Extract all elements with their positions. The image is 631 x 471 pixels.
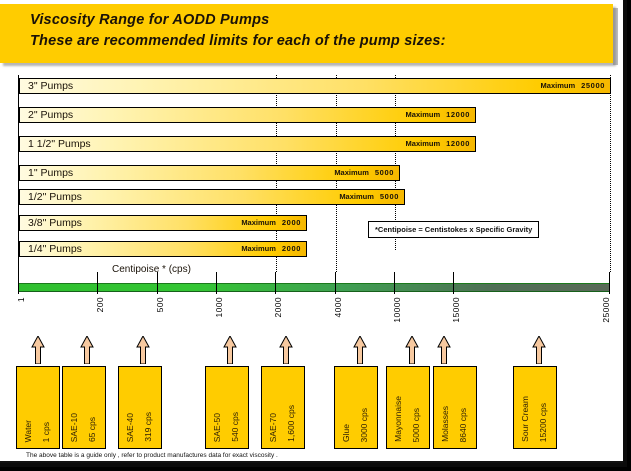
bar-row: 1/2" Pumps Maximum5000	[19, 189, 405, 205]
pointer-arrow-icon	[531, 336, 547, 364]
chart-page: Viscosity Range for AODD Pumps These are…	[0, 0, 631, 471]
title-line-2: These are recommended limits for each of…	[30, 33, 446, 49]
bar-label: 1" Pumps	[28, 167, 73, 179]
product-value: 319 cps	[143, 412, 153, 442]
bar-max-label: Maximum5000	[339, 192, 399, 201]
bar-label: 3/8" Pumps	[28, 217, 82, 229]
axis-tick	[394, 272, 395, 294]
product-card-mayonnaise[interactable]: Mayonnaise 5000 cps	[386, 366, 430, 449]
product-card-sour-cream[interactable]: Sour Cream 15200 cps	[513, 366, 557, 449]
bar-max-label: Maximum5000	[334, 168, 394, 177]
bar-half-in[interactable]: 1/2" Pumps Maximum5000	[19, 189, 405, 205]
bar-label: 2" Pumps	[28, 109, 73, 121]
bar-max-label: Maximum12000	[406, 110, 470, 119]
axis-tick-label: 1000	[214, 297, 224, 318]
pointer-arrow-icon	[79, 336, 95, 364]
bar-label: 1 1/2" Pumps	[28, 138, 91, 150]
product-card-sae-50[interactable]: SAE-50 540 cps	[205, 366, 249, 449]
product-name: Mayonnaise	[393, 396, 403, 442]
axis-bar	[18, 283, 610, 292]
axis-tick	[275, 272, 276, 294]
product-card-glue[interactable]: Glue 3000 cps	[334, 366, 378, 449]
bar-3-8in[interactable]: 3/8" Pumps Maximum2000	[19, 215, 307, 231]
axis-tick	[157, 272, 158, 294]
window-edge-bottom	[0, 463, 631, 467]
pointer-arrow-icon	[30, 336, 46, 364]
window-edge-right	[623, 0, 627, 471]
product-card-sae-40[interactable]: SAE-40 319 cps	[118, 366, 162, 449]
product-card-sae-70[interactable]: SAE-70 1,600 cps	[261, 366, 305, 449]
product-value: 540 cps	[230, 412, 240, 442]
bar-max-label: Maximum12000	[406, 139, 470, 148]
axis-tick-label: 500	[155, 297, 165, 312]
bar-2in[interactable]: 2" Pumps Maximum12000	[19, 107, 476, 123]
banner-shadow	[613, 8, 618, 65]
axis-tick-label: 10000	[392, 297, 402, 323]
product-name: Water	[23, 420, 33, 442]
bar-quarter-in[interactable]: 1/4" Pumps Maximum2000	[19, 241, 307, 257]
product-value: 1,600 cps	[286, 405, 296, 442]
pointer-arrow-icon	[278, 336, 294, 364]
pointer-arrow-icon	[222, 336, 238, 364]
bar-label: 1/2" Pumps	[28, 191, 82, 203]
bar-label: 3" Pumps	[28, 80, 73, 92]
product-name: Glue	[341, 424, 351, 442]
axis-tick	[335, 272, 336, 294]
bar-chart-plot: 3" Pumps Maximum25000 2" Pumps Maximum12…	[18, 75, 610, 292]
product-name: SAE-50	[212, 413, 222, 442]
axis-tick-label: 2000	[273, 297, 283, 318]
bar-row: 2" Pumps Maximum12000	[19, 107, 476, 123]
gridline-25000	[610, 75, 611, 272]
axis-tick	[609, 272, 610, 294]
axis-tick-label: 25000	[601, 297, 611, 323]
bar-row: 3/8" Pumps Maximum2000	[19, 215, 307, 231]
bar-row: 3" Pumps Maximum25000	[19, 78, 611, 94]
product-value: 1 cps	[41, 422, 51, 442]
product-value: 5000 cps	[411, 408, 421, 443]
axis-tick-label: 1	[16, 297, 26, 302]
bar-max-label: Maximum2000	[241, 244, 301, 253]
title-banner: Viscosity Range for AODD Pumps These are…	[0, 4, 613, 63]
axis-tick-label: 4000	[333, 297, 343, 318]
axis-tick	[97, 272, 98, 294]
product-name: SAE-70	[268, 413, 278, 442]
product-value: 3000 cps	[359, 408, 369, 443]
bar-label: 1/4" Pumps	[28, 243, 82, 255]
bar-row: 1/4" Pumps Maximum2000	[19, 241, 307, 257]
bar-row: 1 1/2" Pumps Maximum12000	[19, 136, 476, 152]
product-value: 15200 cps	[538, 403, 548, 442]
axis-tick	[216, 272, 217, 294]
x-axis: 1 200 500 1000 2000 4000 10000 15000 250…	[18, 283, 610, 333]
product-name: Molasses	[440, 406, 450, 442]
product-name: SAE-40	[125, 413, 135, 442]
pointer-arrow-icon	[352, 336, 368, 364]
title-line-1: Viscosity Range for AODD Pumps	[30, 12, 269, 28]
bar-3in[interactable]: 3" Pumps Maximum25000	[19, 78, 611, 94]
centipoise-note: *Centipoise = Centistokes x Specific Gra…	[368, 221, 539, 238]
axis-caption: Centipoise * (cps)	[112, 264, 191, 275]
pointer-arrow-icon	[404, 336, 420, 364]
footer-disclaimer: The above table is a guide only , refer …	[26, 452, 386, 459]
bar-max-label: Maximum25000	[541, 81, 605, 90]
pointer-arrow-icon	[436, 336, 452, 364]
product-name: Sour Cream	[520, 396, 530, 442]
product-name: SAE-10	[69, 413, 79, 442]
product-card-molasses[interactable]: Molasses 8640 cps	[433, 366, 477, 449]
axis-tick-label: 15000	[451, 297, 461, 323]
product-card-sae-10[interactable]: SAE-10 65 cps	[62, 366, 106, 449]
pointer-arrow-icon	[135, 336, 151, 364]
axis-tick	[18, 272, 19, 294]
bar-1in[interactable]: 1" Pumps Maximum5000	[19, 165, 400, 181]
axis-tick	[453, 272, 454, 294]
product-value: 8640 cps	[458, 408, 468, 443]
bar-row: 1" Pumps Maximum5000	[19, 165, 400, 181]
bar-max-label: Maximum2000	[241, 218, 301, 227]
product-card-water[interactable]: Water 1 cps	[16, 366, 60, 449]
axis-tick-label: 200	[95, 297, 105, 312]
bar-1-5in[interactable]: 1 1/2" Pumps Maximum12000	[19, 136, 476, 152]
product-value: 65 cps	[87, 417, 97, 442]
